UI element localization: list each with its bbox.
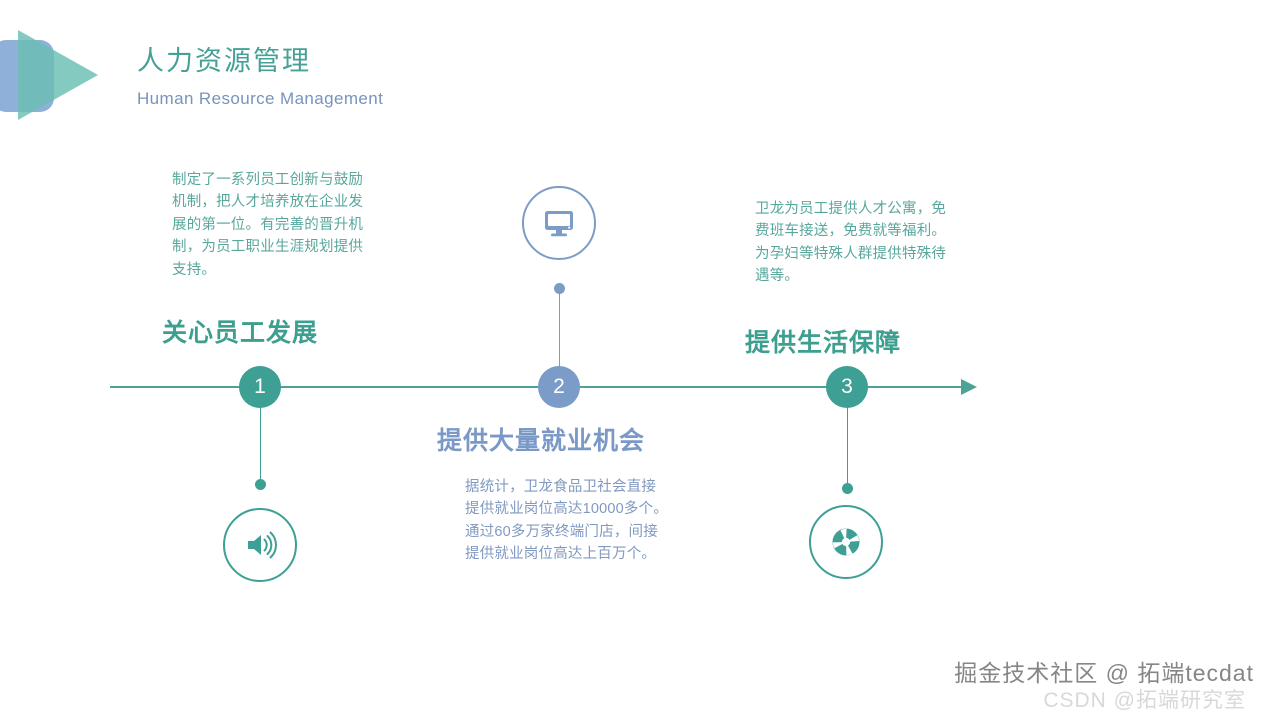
timeline-node-3[interactable]: 3 — [826, 366, 868, 408]
step-3-body: 卫龙为员工提供人才公寓，免费班车接送，免费就等福利。为孕妇等特殊人群提供特殊待遇… — [755, 198, 955, 288]
logo-triangle-shape — [18, 30, 98, 120]
step-2-body: 据统计，卫龙食品卫社会直接提供就业岗位高达10000多个。通过60多万家终端门店… — [465, 476, 670, 566]
speaker-volume-icon[interactable] — [223, 508, 297, 582]
page-title: 人力资源管理 — [137, 47, 383, 77]
compact-disc-glyph — [824, 520, 868, 564]
step-1-connector — [260, 404, 262, 484]
step-2-heading: 提供大量就业机会 — [437, 421, 645, 457]
watermark-secondary: CSDN @拓端研究室 — [1043, 684, 1246, 714]
step-3-connector-dot — [842, 483, 853, 494]
monitor-icon[interactable] — [522, 186, 596, 260]
title-block: 人力资源管理 Human Resource Management — [137, 47, 383, 109]
timeline-node-1-label: 1 — [254, 375, 266, 399]
step-2-connector-dot — [554, 283, 565, 294]
step-3-heading: 提供生活保障 — [745, 323, 901, 359]
arrow-right-icon — [961, 379, 977, 395]
page-subtitle: Human Resource Management — [137, 89, 383, 109]
monitor-glyph — [538, 202, 580, 244]
step-1-connector-dot — [255, 479, 266, 490]
compact-disc-icon[interactable] — [809, 505, 883, 579]
timeline-node-2[interactable]: 2 — [538, 366, 580, 408]
page-header: 人力资源管理 Human Resource Management — [0, 0, 1280, 150]
step-1-heading: 关心员工发展 — [162, 313, 318, 349]
timeline-node-1[interactable]: 1 — [239, 366, 281, 408]
timeline-node-3-label: 3 — [841, 375, 853, 399]
timeline-node-2-label: 2 — [553, 375, 565, 399]
speaker-volume-glyph — [240, 525, 280, 565]
watermark-primary: 掘金技术社区 @ 拓端tecdat — [954, 654, 1254, 688]
step-1-body: 制定了一系列员工创新与鼓励机制，把人才培养放在企业发展的第一位。有完善的晋升机制… — [172, 169, 372, 281]
play-triangle-logo — [0, 22, 112, 127]
step-2-connector — [559, 290, 561, 370]
step-3-connector — [847, 404, 849, 488]
